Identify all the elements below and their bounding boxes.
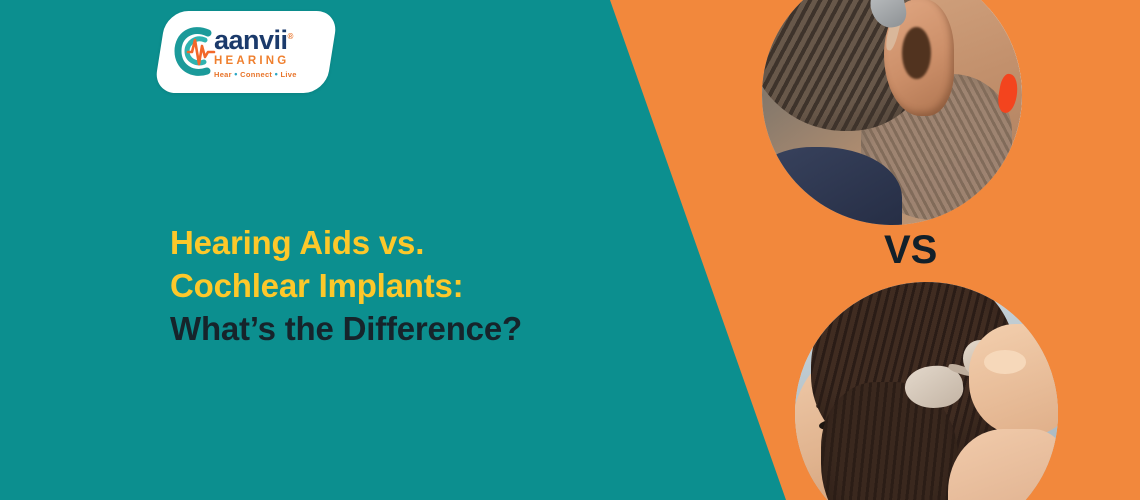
brand-logo[interactable]: aanvii® HEARING Hear • Connect • Live: [160, 11, 332, 93]
woman-with-cochlear-implant-photo: [795, 282, 1058, 500]
logo-wordmark: aanvii® HEARING Hear • Connect • Live: [214, 25, 332, 80]
photo-bottom-content: [795, 282, 1058, 500]
man-with-hearing-aid-photo: [762, 0, 1022, 225]
headline-line-2: Cochlear Implants:: [170, 265, 610, 308]
logo-brand-text: aanvii®: [214, 27, 332, 54]
headline-line-3: What’s the Difference?: [170, 308, 610, 351]
logo-tagline: Hear • Connect • Live: [214, 69, 332, 79]
page-title: Hearing Aids vs. Cochlear Implants: What…: [170, 222, 610, 351]
headline-line-1: Hearing Aids vs.: [170, 222, 610, 265]
logo-subtitle: HEARING: [214, 55, 332, 68]
promo-banner: aanvii® HEARING Hear • Connect • Live He…: [0, 0, 1140, 500]
registered-trademark-icon: ®: [288, 32, 293, 41]
versus-label: VS: [884, 228, 937, 273]
photo-top-content: [762, 0, 1022, 225]
